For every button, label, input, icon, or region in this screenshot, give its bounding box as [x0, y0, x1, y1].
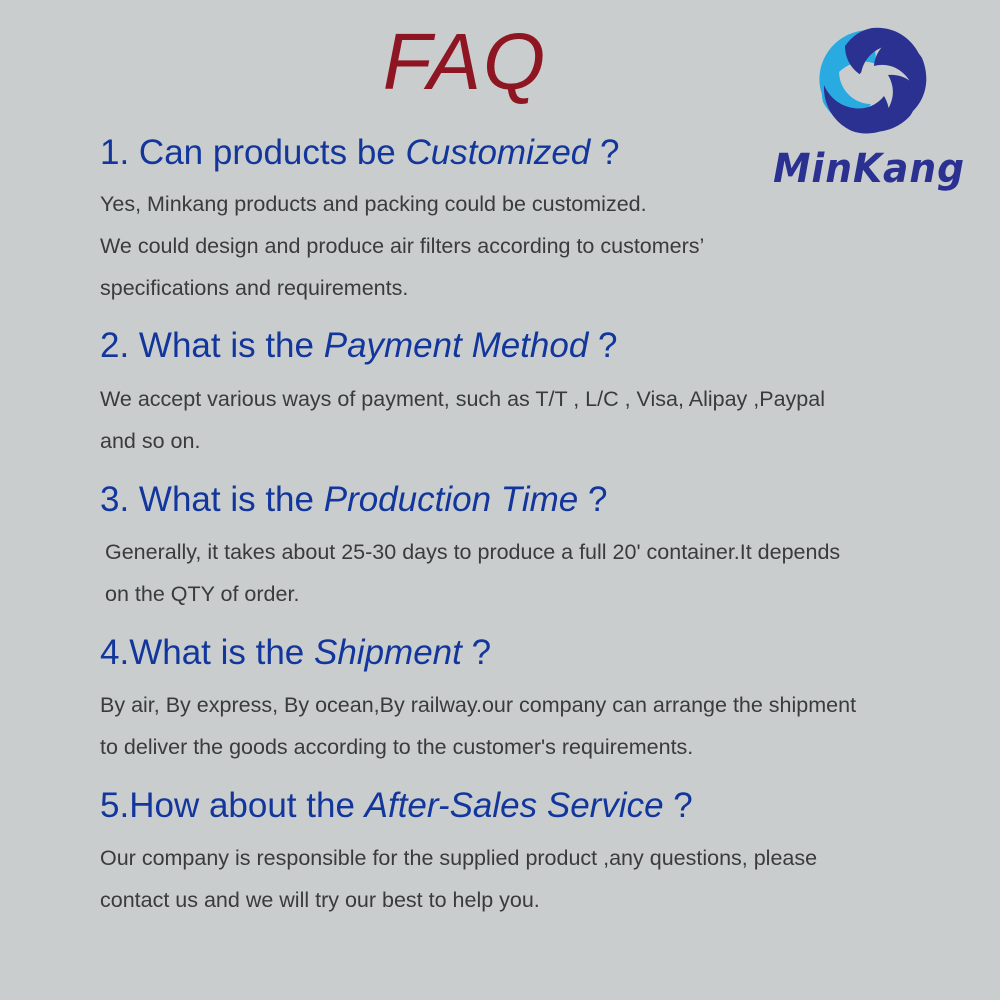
faq-number-4: 4. [100, 633, 129, 672]
faq-answer-line: specifications and requirements. [100, 267, 980, 309]
faq-answer-2: We accept various ways of payment, such … [100, 378, 980, 462]
faq-answer-1: Yes, Minkang products and packing could … [100, 183, 980, 309]
faq-answer-line: We could design and produce air filters … [100, 225, 980, 267]
faq-question-emphasis-5: After-Sales Service [365, 786, 664, 825]
faq-number-2: 2. [100, 326, 139, 365]
faq-answer-3: Generally, it takes about 25-30 days to … [100, 531, 980, 615]
faq-question-emphasis-2: Payment Method [324, 326, 589, 365]
faq-question-tail-4: ? [462, 633, 491, 672]
faq-question-tail-1: ? [590, 133, 619, 172]
faq-answer-line: By air, By express, By ocean,By railway.… [100, 684, 980, 726]
faq-question-lead-4: What is the [129, 633, 314, 672]
faq-question-lead-2: What is the [139, 326, 324, 365]
faq-question-emphasis-3: Production Time [324, 480, 579, 519]
faq-answer-line: and so on. [100, 420, 980, 462]
faq-number-5: 5. [100, 786, 129, 825]
faq-question-5: 5.How about the After-Sales Service ? [100, 785, 980, 826]
faq-page: FAQ MinKang 1. Can products [0, 0, 1000, 1000]
faq-question-lead-5: How about the [129, 786, 364, 825]
faq-item-5: 5.How about the After-Sales Service ? Ou… [100, 785, 980, 921]
faq-question-2: 2. What is the Payment Method ? [100, 325, 980, 366]
faq-question-lead-1: Can products be [139, 133, 406, 172]
faq-question-4: 4.What is the Shipment ? [100, 632, 980, 673]
faq-item-2: 2. What is the Payment Method ? We accep… [100, 325, 980, 461]
faq-number-3: 3. [100, 480, 139, 519]
faq-answer-line: contact us and we will try our best to h… [100, 879, 980, 921]
faq-answer-line: Yes, Minkang products and packing could … [100, 183, 980, 225]
faq-question-emphasis-1: Customized [405, 133, 590, 172]
faq-item-1: 1. Can products be Customized ? Yes, Min… [100, 132, 980, 309]
faq-answer-line: Generally, it takes about 25-30 days to … [105, 531, 980, 573]
faq-answer-line: Our company is responsible for the suppl… [100, 837, 980, 879]
faq-question-tail-3: ? [578, 480, 607, 519]
faq-answer-line: on the QTY of order. [105, 573, 980, 615]
faq-question-tail-2: ? [588, 326, 617, 365]
faq-question-emphasis-4: Shipment [314, 633, 462, 672]
faq-question-3: 3. What is the Production Time ? [100, 479, 980, 520]
faq-answer-4: By air, By express, By ocean,By railway.… [100, 684, 980, 768]
faq-answer-line: We accept various ways of payment, such … [100, 378, 980, 420]
faq-question-tail-5: ? [664, 786, 693, 825]
faq-number-1: 1. [100, 133, 139, 172]
faq-answer-5: Our company is responsible for the suppl… [100, 837, 980, 921]
minkang-swirl-emblem-icon [806, 18, 934, 146]
faq-content: 1. Can products be Customized ? Yes, Min… [100, 132, 980, 921]
faq-question-lead-3: What is the [139, 480, 324, 519]
faq-question-1: 1. Can products be Customized ? [100, 132, 980, 173]
faq-answer-line: to deliver the goods according to the cu… [100, 726, 980, 768]
faq-item-3: 3. What is the Production Time ? General… [100, 479, 980, 615]
faq-item-4: 4.What is the Shipment ? By air, By expr… [100, 632, 980, 768]
